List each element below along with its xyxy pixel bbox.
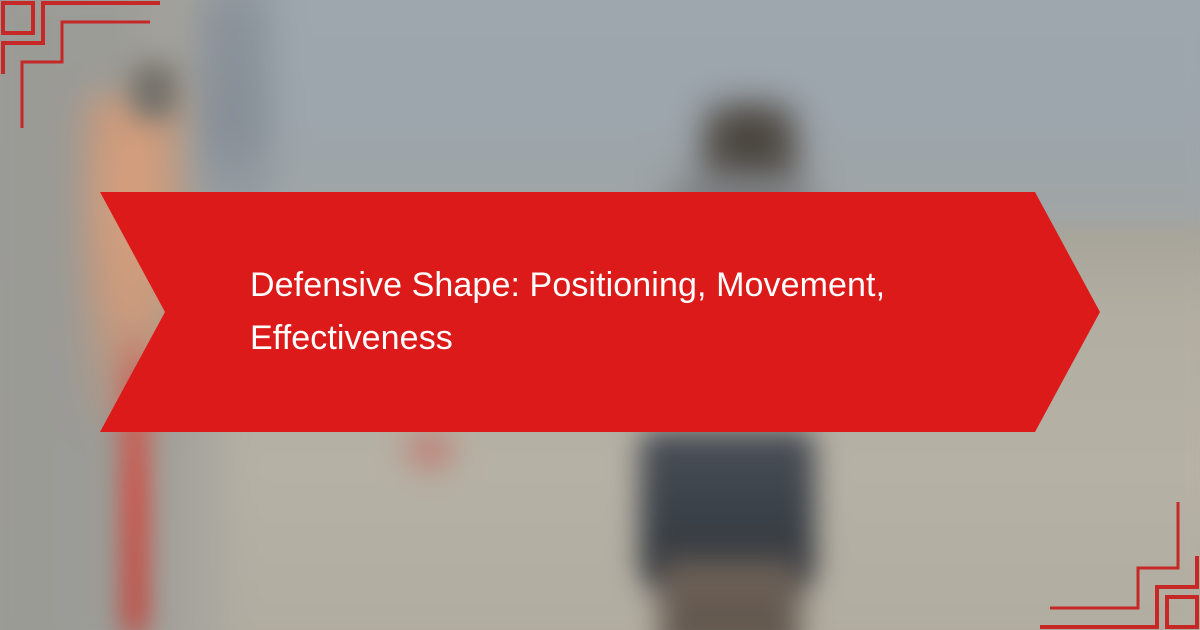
page-title: Defensive Shape: Positioning, Movement, … <box>250 259 1010 364</box>
share-card: Defensive Shape: Positioning, Movement, … <box>0 0 1200 630</box>
title-banner: Defensive Shape: Positioning, Movement, … <box>100 192 1100 432</box>
